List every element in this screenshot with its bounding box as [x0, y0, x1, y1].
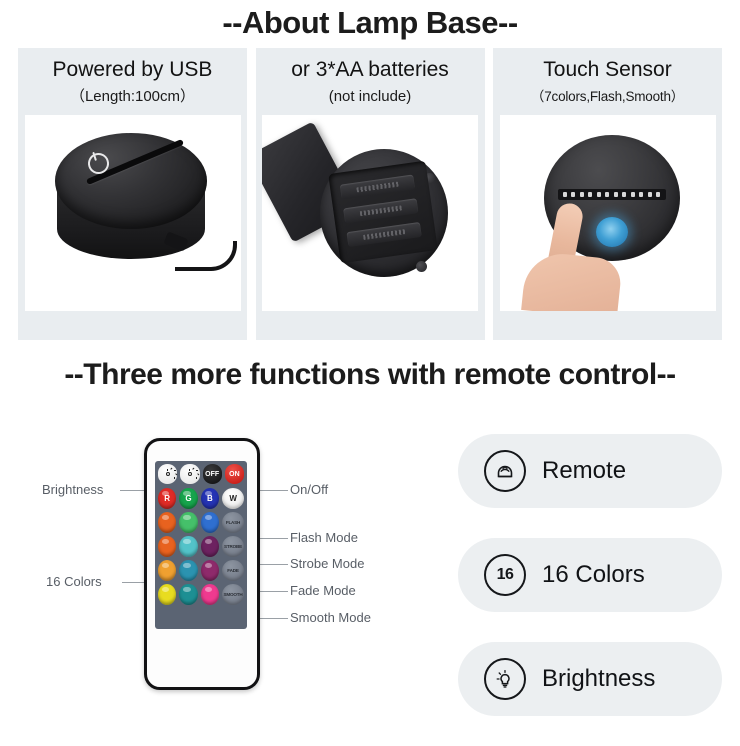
battery-slot	[340, 174, 415, 199]
lamp-base-top-disc	[55, 133, 207, 229]
light-bulb-icon	[484, 658, 526, 700]
leader-line	[256, 538, 288, 539]
smooth-mode-button[interactable]: SMOOTH	[222, 584, 244, 605]
leader-line	[256, 490, 288, 491]
card-title: Touch Sensor	[543, 57, 671, 83]
feature-badge-16-colors[interactable]: 16 16 Colors	[458, 538, 722, 612]
card-title: Powered by USB	[53, 57, 213, 83]
card-subtitle: （Length:100cm）	[70, 87, 195, 107]
strobe-mode-button[interactable]: STROBE	[222, 536, 244, 557]
color-button[interactable]	[158, 512, 176, 533]
brightness-up-icon	[163, 470, 172, 479]
color-button[interactable]	[158, 560, 176, 581]
callout-smooth-mode: Smooth Mode	[290, 610, 371, 626]
color-button[interactable]	[179, 512, 197, 533]
color-button[interactable]	[158, 584, 176, 605]
battery-slot	[343, 198, 418, 223]
card-title: or 3*AA batteries	[291, 57, 449, 83]
card-subtitle: (not include)	[329, 87, 412, 107]
leader-line	[256, 591, 288, 592]
feature-badge-brightness[interactable]: Brightness	[458, 642, 722, 716]
leader-line	[256, 564, 288, 565]
color-button[interactable]	[179, 560, 197, 581]
leader-line	[256, 618, 288, 619]
page-title-three-more-functions: --Three more functions with remote contr…	[0, 356, 740, 394]
sixteen-number: 16	[497, 566, 514, 584]
feature-badge-list: Remote 16 16 Colors Brightness	[458, 434, 722, 746]
callout-on-off: On/Off	[290, 482, 328, 498]
led-strip	[558, 189, 666, 200]
touch-button	[596, 217, 628, 247]
color-button[interactable]	[201, 512, 219, 533]
remote-control[interactable]: OFF ON R G B	[144, 438, 260, 690]
lamp-base-card-row: Powered by USB （Length:100cm） or 3*AA ba…	[18, 48, 722, 340]
color-button-red[interactable]: R	[158, 488, 176, 509]
lamp-base-underside	[320, 149, 448, 277]
brightness-up-button[interactable]	[158, 464, 177, 484]
color-button-white[interactable]: W	[222, 488, 244, 509]
remote-lower-area: R G B	[158, 488, 244, 605]
color-button-grid: R G B	[158, 488, 219, 605]
brightness-down-icon	[185, 470, 194, 479]
infographic-page: --About Lamp Base-- Powered by USB （Leng…	[0, 0, 740, 740]
battery-well	[328, 161, 438, 264]
remote-keypad: OFF ON R G B	[155, 461, 247, 629]
color-button[interactable]	[201, 584, 219, 605]
feature-label: Remote	[542, 457, 626, 485]
remote-signal-icon	[484, 450, 526, 492]
card-subtitle: （7colors,Flash,Smooth）	[531, 87, 684, 107]
callout-strobe-mode: Strobe Mode	[290, 556, 364, 572]
feature-label: 16 Colors	[542, 561, 645, 589]
usb-lamp-base-photo	[25, 115, 241, 311]
color-button[interactable]	[179, 536, 197, 557]
power-on-button[interactable]: ON	[225, 464, 244, 484]
page-title-about-lamp-base: --About Lamp Base--	[0, 4, 740, 42]
mode-button-column: W FLASH STROBE FADE SMOOTH	[222, 488, 244, 605]
fade-mode-button[interactable]: FADE	[222, 560, 244, 581]
battery-slot	[346, 222, 421, 247]
leader-line	[120, 490, 146, 491]
remote-top-button-row: OFF ON	[158, 464, 244, 484]
leader-line	[122, 582, 146, 583]
screw	[416, 261, 427, 272]
feature-label: Brightness	[542, 665, 655, 693]
battery-compartment-photo	[262, 115, 478, 311]
card-powered-by-usb: Powered by USB （Length:100cm）	[18, 48, 247, 340]
feature-badge-remote[interactable]: Remote	[458, 434, 722, 508]
card-aa-batteries: or 3*AA batteries (not include)	[256, 48, 485, 340]
callout-flash-mode: Flash Mode	[290, 530, 358, 546]
color-button-blue[interactable]: B	[201, 488, 219, 509]
sixteen-circle-icon: 16	[484, 554, 526, 596]
card-touch-sensor: Touch Sensor （7colors,Flash,Smooth）	[493, 48, 722, 340]
color-button[interactable]	[179, 584, 197, 605]
power-off-button[interactable]: OFF	[203, 464, 222, 484]
brightness-down-button[interactable]	[180, 464, 199, 484]
callout-16-colors: 16 Colors	[46, 574, 102, 590]
callout-brightness: Brightness	[42, 482, 103, 498]
color-button[interactable]	[201, 560, 219, 581]
flash-mode-button[interactable]: FLASH	[222, 512, 244, 533]
touch-sensor-photo	[500, 115, 716, 311]
usb-cable	[175, 241, 237, 271]
color-button[interactable]	[201, 536, 219, 557]
color-button[interactable]	[158, 536, 176, 557]
color-button-green[interactable]: G	[179, 488, 197, 509]
callout-fade-mode: Fade Mode	[290, 583, 356, 599]
